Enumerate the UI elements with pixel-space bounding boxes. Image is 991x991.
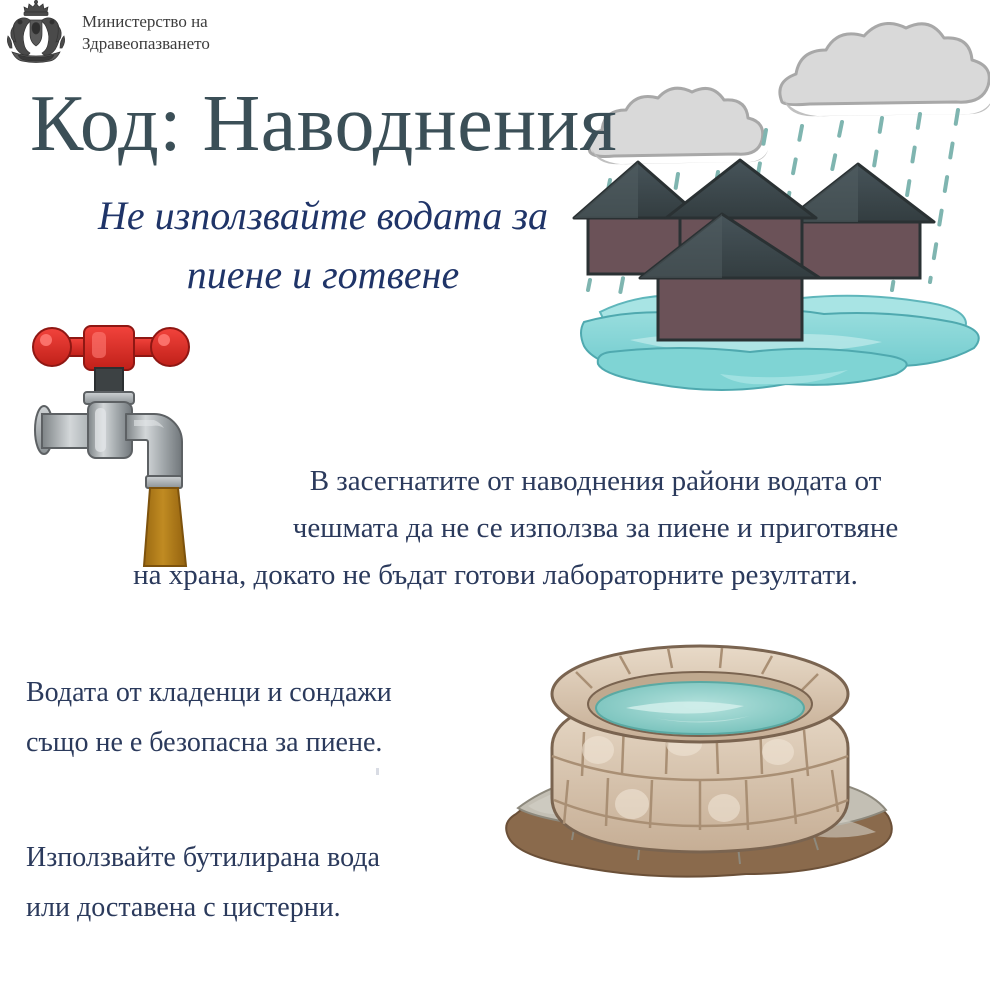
bulgarian-coat-of-arms-icon [0, 0, 72, 66]
bottled-water-line-2: или доставена с цистерни. [26, 883, 496, 933]
stone-well-illustration [492, 628, 912, 893]
ministry-name-line-1: Министерство на [82, 11, 210, 33]
infographic-poster: Код: Наводнения Не използвайте водата за… [0, 0, 991, 991]
faucet-knob-right [151, 328, 189, 366]
ministry-name-line-2: Здравеопазването [82, 33, 210, 55]
main-paragraph-line-2: чешмата да не се използва за пиене и при… [28, 505, 963, 552]
well-warning-line-2: също не е безопасна за пиене. [26, 718, 496, 768]
faucet-knob-left [33, 328, 71, 366]
main-paragraph: В засегнатите от наводнения райони водат… [28, 458, 963, 599]
main-paragraph-line-3: на храна, докато не бъдат готови лаборат… [28, 552, 963, 599]
bottled-water-line-1: Използвайте бутилирана вода [26, 833, 496, 883]
subtitle-line-2: пиене и готвене [34, 245, 612, 304]
ministry-logo: Министерство на Здравеопазването [0, 0, 250, 72]
ministry-name: Министерство на Здравеопазването [82, 11, 210, 55]
subtitle-line-1: Не използвайте водата за [98, 193, 548, 238]
faucet-handle-center [84, 326, 134, 370]
well-warning-paragraph: Водата от кладенци и сондажи също не е б… [26, 668, 496, 768]
faucet-stem [95, 368, 123, 394]
bottled-water-paragraph: Използвайте бутилирана вода или доставен… [26, 833, 496, 933]
main-paragraph-line-1: В засегнатите от наводнения райони водат… [28, 458, 963, 505]
cloud-icon-right [780, 24, 990, 117]
house-right [784, 164, 934, 278]
flooded-houses-illustration [570, 22, 990, 422]
artifact-dot [376, 768, 379, 775]
well-warning-line-1: Водата от кладенци и сондажи [26, 668, 496, 718]
subtitle: Не използвайте водата за пиене и готвене [34, 186, 612, 304]
page-title: Код: Наводнения [30, 84, 617, 164]
